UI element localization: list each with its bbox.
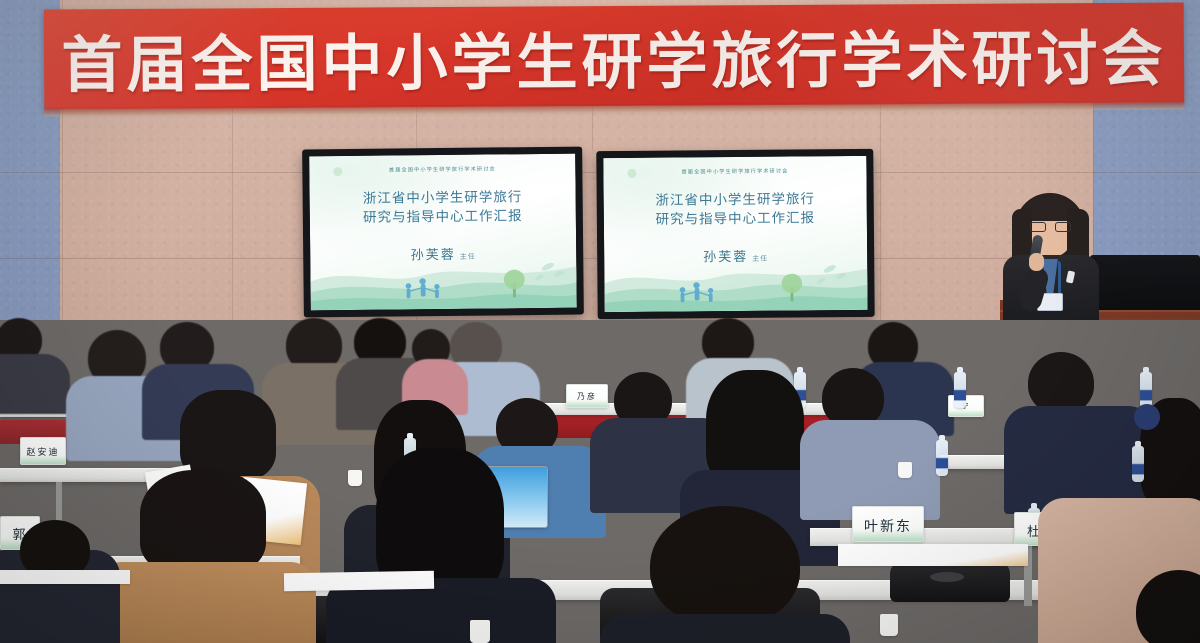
person-hair (180, 390, 276, 480)
hair-bow-accessory (1134, 404, 1160, 430)
person-hair (140, 470, 266, 574)
person-torso (600, 614, 850, 643)
slide-header-right: 首届全国中小学生研学旅行学术研讨会 (640, 167, 829, 176)
glasses-icon (1030, 222, 1071, 232)
handout-papers (284, 571, 434, 592)
projection-screen-right: 首届全国中小学生研学旅行学术研讨会 浙江省中小学生研学旅行 研究与指导中心工作汇… (596, 149, 874, 319)
slide-title-line1: 浙江省中小学生研学旅行 (625, 190, 846, 211)
conference-photo-scene: 首届全国中小学生研学旅行学术研讨会 首届全国中小学生研学旅行学术研讨会 浙江省中… (0, 0, 1200, 643)
audience-member (610, 506, 840, 643)
handout-papers (0, 570, 130, 584)
speaker-presenter (995, 193, 1105, 328)
paper-cup (880, 614, 898, 636)
slide-header-left: 首届全国中小学生研学旅行学术研讨会 (347, 165, 539, 174)
podium-monitor (1090, 255, 1200, 317)
chair-grip (930, 572, 964, 582)
audience-member (1010, 492, 1200, 643)
water-bottle (954, 372, 966, 408)
table-leg (56, 482, 62, 522)
audience-member (330, 448, 540, 643)
paper-cup (898, 462, 912, 478)
water-bottle (1132, 446, 1144, 482)
person-torso (800, 420, 940, 520)
slide-illustration-left (310, 240, 577, 311)
placard-decor (853, 530, 923, 541)
slide-title-line2: 研究与指导中心工作汇报 (625, 209, 846, 230)
name-placard: 叶新东 (852, 506, 924, 542)
name-placard: 赵安迪 (20, 437, 66, 465)
person-head (1028, 352, 1094, 414)
event-banner: 首届全国中小学生研学旅行学术研讨会 (44, 3, 1185, 110)
audience-member (404, 325, 464, 387)
person-head (822, 368, 884, 428)
slide-left: 首届全国中小学生研学旅行学术研讨会 浙江省中小学生研学旅行 研究与指导中心工作汇… (309, 154, 577, 311)
audience-member (88, 470, 308, 643)
slide-decor-dot (627, 169, 636, 178)
slide-right: 首届全国中小学生研学旅行学术研讨会 浙江省中小学生研学旅行 研究与指导中心工作汇… (603, 156, 867, 312)
placard-decor (21, 456, 65, 464)
paper-cup (470, 620, 490, 643)
slide-illustration-right (604, 242, 868, 312)
placard-decor (949, 410, 983, 416)
speaker-hand (1029, 253, 1044, 271)
person-head (650, 506, 800, 626)
slide-title-line1: 浙江省中小学生研学旅行 (331, 188, 555, 210)
audience-member (0, 318, 70, 398)
handout-papers (838, 544, 1028, 566)
audience-member (1012, 352, 1138, 480)
banner-title: 首届全国中小学生研学旅行学术研讨会 (61, 8, 1167, 104)
slide-decor-dot (333, 167, 342, 176)
water-bottle (936, 440, 948, 476)
person-torso (0, 354, 70, 414)
slide-title-line2: 研究与指导中心工作汇报 (331, 207, 555, 229)
slide-title-right: 浙江省中小学生研学旅行 研究与指导中心工作汇报 (625, 190, 846, 231)
projection-screen-left: 首届全国中小学生研学旅行学术研讨会 浙江省中小学生研学旅行 研究与指导中心工作汇… (302, 147, 584, 318)
slide-title-left: 浙江省中小学生研学旅行 研究与指导中心工作汇报 (331, 188, 555, 229)
